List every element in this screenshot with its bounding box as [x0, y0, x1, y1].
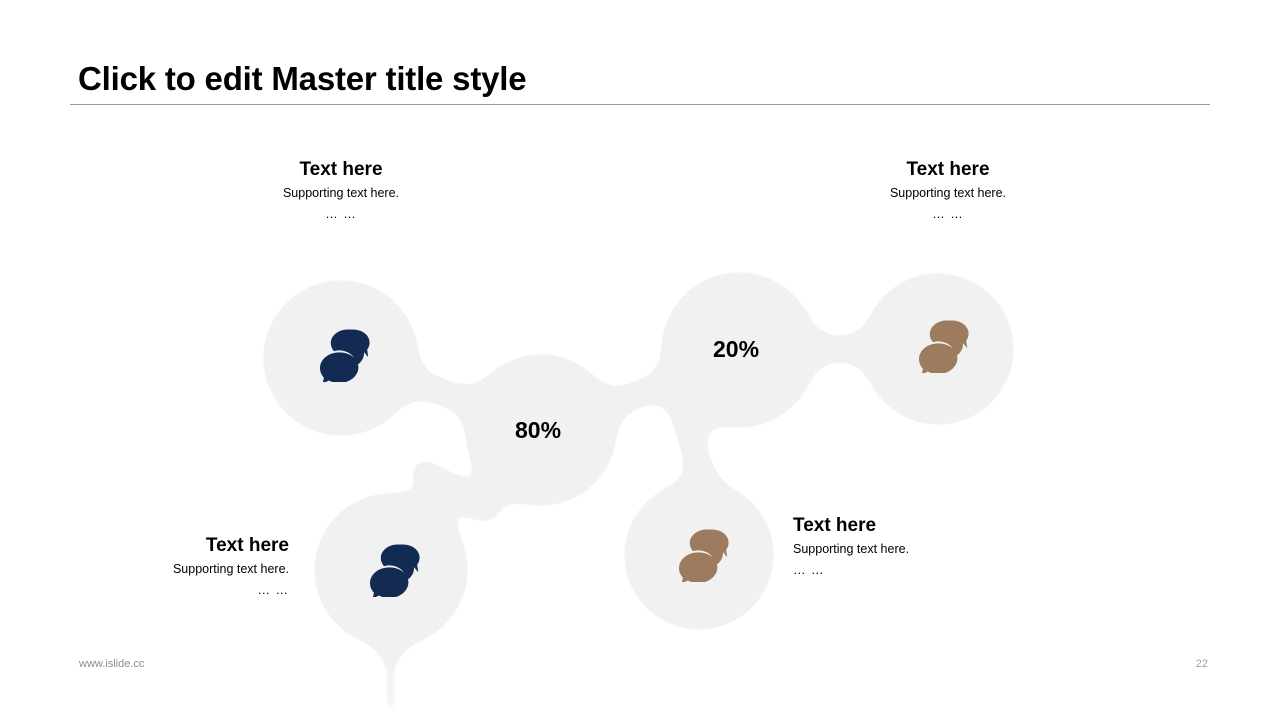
- callout-supporting: Supporting text here.: [241, 182, 441, 204]
- callout-supporting: Supporting text here.: [793, 538, 1003, 560]
- value-label-upper-right: 20%: [713, 336, 759, 363]
- page-number: 22: [1178, 658, 1208, 670]
- callout-dots: … …: [793, 560, 1003, 580]
- callout-heading: Text here: [241, 158, 441, 182]
- callout-top-right: Text here Supporting text here. … …: [848, 158, 1048, 224]
- callout-dots: … …: [848, 204, 1048, 224]
- callout-heading: Text here: [793, 514, 1003, 538]
- callout-heading: Text here: [105, 534, 289, 558]
- callout-heading: Text here: [848, 158, 1048, 182]
- callout-supporting: Supporting text here.: [848, 182, 1048, 204]
- speech-bubbles-icon: [673, 528, 731, 582]
- callout-supporting: Supporting text here.: [105, 558, 289, 580]
- page-title: Click to edit Master title style: [78, 60, 526, 98]
- speech-bubbles-icon: [364, 543, 422, 597]
- callout-bottom-right: Text here Supporting text here. … …: [793, 514, 1003, 580]
- callout-top-left: Text here Supporting text here. … …: [241, 158, 441, 224]
- speech-bubbles-icon: [314, 328, 372, 382]
- metaball-diagram: [0, 0, 1280, 720]
- slide-canvas: Click to edit Master title style: [0, 0, 1280, 720]
- callout-dots: … …: [241, 204, 441, 224]
- title-divider: [70, 104, 1210, 105]
- footer-url[interactable]: www.islide.cc: [79, 658, 144, 670]
- value-label-center: 80%: [515, 417, 561, 444]
- speech-bubbles-icon: [913, 319, 971, 373]
- callout-bottom-left: Text here Supporting text here. … …: [105, 534, 289, 600]
- blob-cluster: [263, 272, 1014, 720]
- callout-dots: … …: [105, 580, 289, 600]
